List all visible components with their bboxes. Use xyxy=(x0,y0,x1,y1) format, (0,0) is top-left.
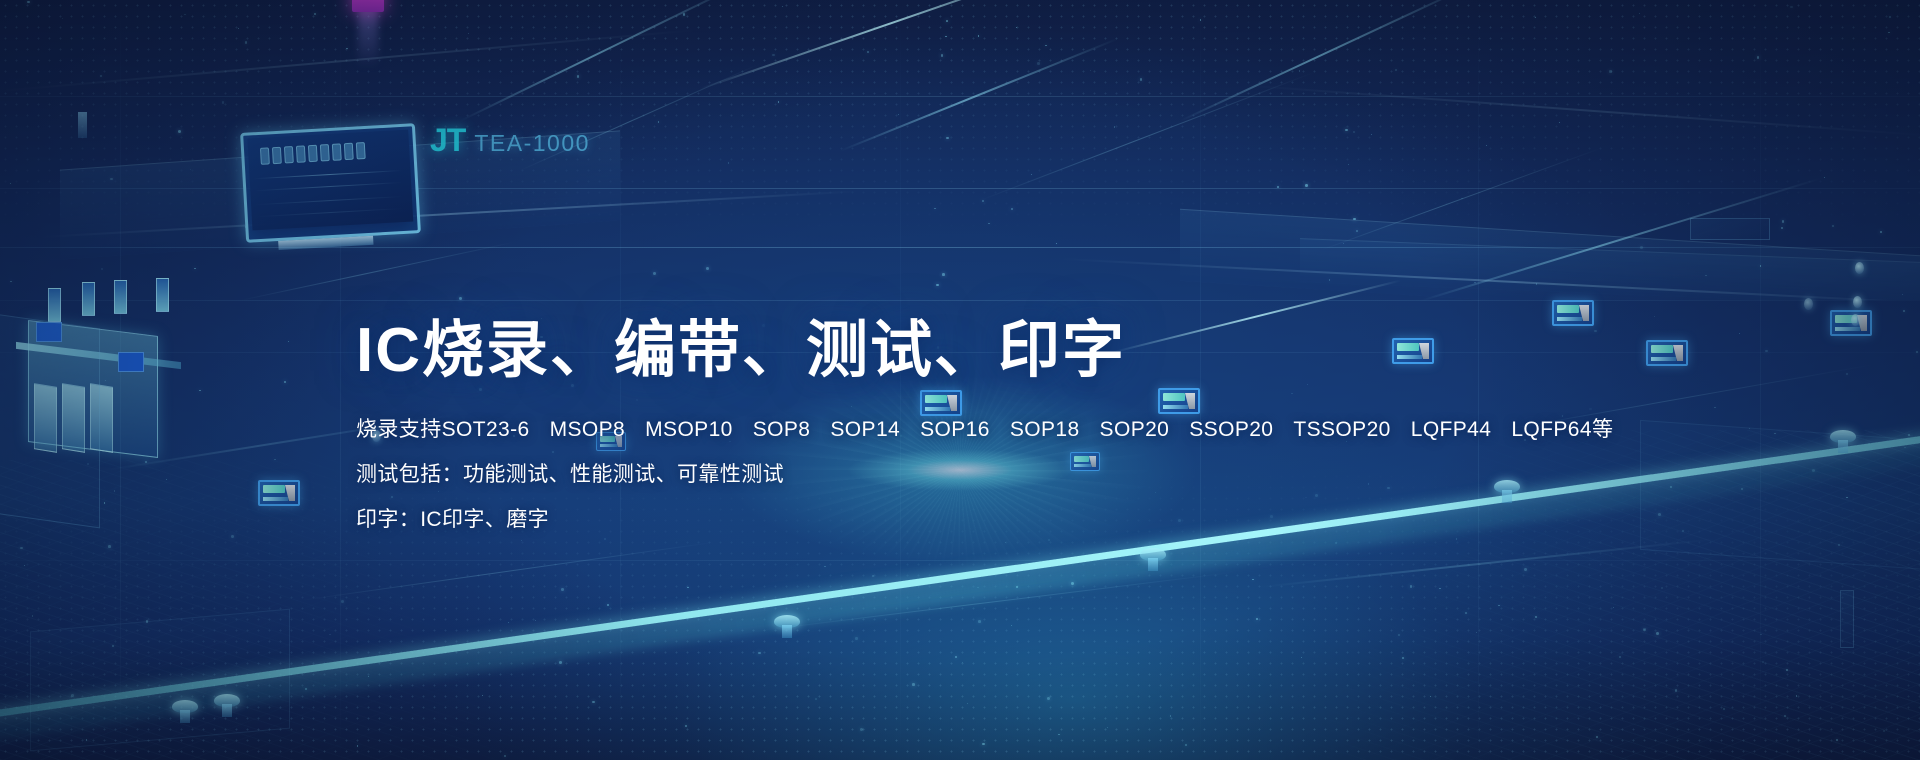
particle-dot xyxy=(1305,184,1308,187)
particle-dot xyxy=(1656,632,1659,635)
particle-dot xyxy=(1535,616,1537,618)
particle-dot xyxy=(1439,588,1441,590)
package-label: SOP18 xyxy=(1010,419,1080,440)
test-scope-line: 测试包括：功能测试、性能测试、可靠性测试 xyxy=(356,464,1606,485)
particle-dot xyxy=(1723,708,1725,710)
particle-dot xyxy=(967,703,968,704)
particle-dot xyxy=(1781,227,1784,230)
chip-package-icon xyxy=(1646,340,1688,366)
rail-node xyxy=(1826,430,1860,454)
indicator-light xyxy=(1804,298,1813,310)
particle-dot xyxy=(62,18,63,19)
particle-dot xyxy=(1832,225,1834,227)
particle-dot xyxy=(824,566,826,568)
particle-dot xyxy=(1675,689,1678,692)
particle-dot xyxy=(1486,145,1487,146)
particle-dot xyxy=(1045,45,1047,47)
hero-banner: JT TEA-1000 IC烧录、编带 xyxy=(0,0,1920,760)
particle-dot xyxy=(1058,734,1060,736)
particle-dot xyxy=(1760,634,1762,636)
particle-dot xyxy=(1889,16,1892,19)
machine-backdrop-panel xyxy=(0,312,100,529)
particle-dot xyxy=(1371,134,1372,135)
particle-dot xyxy=(772,54,775,57)
particle-dot xyxy=(1705,275,1707,277)
particle-dot xyxy=(912,683,915,686)
particle-dot xyxy=(114,490,116,492)
particle-dot xyxy=(1256,618,1258,620)
particle-dot xyxy=(1410,585,1413,588)
particle-dot xyxy=(592,701,595,704)
particle-dot xyxy=(468,33,469,34)
particle-dot xyxy=(1536,283,1538,285)
rail-node xyxy=(168,700,202,724)
particle-dot xyxy=(1880,231,1882,233)
particle-dot xyxy=(988,223,989,224)
particle-dot xyxy=(341,600,344,603)
particle-dot xyxy=(1613,607,1614,608)
particle-dot xyxy=(184,14,186,16)
monitor-screen xyxy=(247,130,413,231)
particle-dot xyxy=(1902,294,1903,295)
particle-dot xyxy=(1765,350,1768,353)
particle-dot xyxy=(101,268,103,270)
rail-node xyxy=(210,694,244,718)
package-label: LQFP64等 xyxy=(1511,419,1613,440)
particle-dot xyxy=(1107,727,1109,729)
monitor-display xyxy=(240,123,421,243)
particle-dot xyxy=(706,267,709,270)
particle-dot xyxy=(1760,265,1762,267)
particle-dot xyxy=(1596,736,1598,738)
rail-node xyxy=(770,615,804,639)
particle-dot xyxy=(32,615,34,617)
brand-mark-text: JT xyxy=(430,122,465,159)
particle-dot xyxy=(559,661,562,664)
particle-dot xyxy=(1661,587,1664,590)
particle-dot xyxy=(1524,568,1527,571)
particle-dot xyxy=(1757,56,1759,58)
equipment-model-text: TEA-1000 xyxy=(474,130,590,157)
package-label: SOP8 xyxy=(753,419,811,440)
particle-dot xyxy=(284,381,286,383)
particle-dot xyxy=(314,13,316,15)
particle-dot xyxy=(1356,230,1358,232)
package-label: LQFP44 xyxy=(1411,419,1492,440)
particle-dot xyxy=(1888,32,1890,34)
particle-dot xyxy=(685,725,687,727)
particle-dot xyxy=(860,728,863,731)
package-label: SOP14 xyxy=(830,419,900,440)
particle-dot xyxy=(238,28,239,29)
burn-support-line: 烧录支持SOT23-6MSOP8MSOP10SOP8SOP14SOP16SOP1… xyxy=(356,419,1606,440)
particle-dot xyxy=(978,620,981,623)
particle-dot xyxy=(1784,715,1786,717)
particle-dot xyxy=(577,75,579,77)
right-post xyxy=(1840,590,1854,648)
particle-dot xyxy=(855,637,857,639)
banner-detail-lines: 烧录支持SOT23-6MSOP8MSOP10SOP8SOP14SOP16SOP1… xyxy=(356,419,1606,530)
particle-dot xyxy=(1329,279,1330,280)
particle-dot xyxy=(1140,78,1142,80)
particle-dot xyxy=(1908,434,1910,436)
package-label: MSOP10 xyxy=(645,419,733,440)
light-beam xyxy=(358,8,378,68)
particle-dot xyxy=(978,35,980,37)
particle-dot xyxy=(1090,70,1091,71)
particle-dot xyxy=(1916,351,1918,353)
particle-dot xyxy=(1640,246,1643,249)
particle-dot xyxy=(982,743,985,746)
particle-dot xyxy=(1476,632,1477,633)
particle-dot xyxy=(1353,218,1355,220)
particle-dot xyxy=(1343,243,1344,244)
particle-dot xyxy=(936,284,938,286)
particle-dot xyxy=(782,6,783,7)
particle-dot xyxy=(1782,220,1785,223)
particle-dot xyxy=(1762,661,1764,663)
particle-dot xyxy=(190,169,191,170)
particle-dot xyxy=(108,545,111,548)
machine-head xyxy=(48,288,61,322)
indicator-light xyxy=(1851,314,1860,326)
particle-dot xyxy=(942,273,945,276)
particle-dot xyxy=(1739,333,1740,334)
machine-head xyxy=(114,280,127,314)
particle-dot xyxy=(683,13,685,15)
particle-dot xyxy=(1037,62,1040,65)
particle-dot xyxy=(110,178,113,181)
particle-dot xyxy=(898,114,899,115)
particle-dot xyxy=(946,137,948,139)
particle-dot xyxy=(658,121,659,122)
particle-dot xyxy=(1170,715,1172,717)
equipment-brand-logo: JT TEA-1000 xyxy=(430,122,590,159)
particle-dot xyxy=(1824,177,1825,178)
particle-dot xyxy=(1395,69,1397,71)
machine-module xyxy=(118,352,144,372)
particle-dot xyxy=(1609,70,1612,73)
monitor-stand xyxy=(78,112,87,138)
particle-dot xyxy=(1299,70,1301,72)
package-label: SOP20 xyxy=(1100,419,1170,440)
particle-dot xyxy=(346,48,347,49)
burn-support-prefix: 烧录支持SOT23-6 xyxy=(356,419,530,440)
particle-dot xyxy=(941,54,943,56)
particle-dot xyxy=(1031,174,1032,175)
particle-dot xyxy=(955,656,957,658)
particle-dot xyxy=(1559,122,1560,123)
particle-dot xyxy=(482,695,483,696)
particle-dot xyxy=(1790,6,1793,9)
particle-dot xyxy=(100,75,102,77)
particle-dot xyxy=(27,1,30,4)
particle-dot xyxy=(1200,19,1202,21)
particle-dot xyxy=(1114,126,1116,128)
machine-head xyxy=(156,278,169,312)
package-label: SSOP20 xyxy=(1189,419,1273,440)
marking-scope-line: 印字：IC印字、磨字 xyxy=(356,509,1606,530)
particle-dot xyxy=(1846,373,1848,375)
particle-dot xyxy=(1301,657,1302,658)
banner-copy: IC烧录、编带、测试、印字 烧录支持SOT23-6MSOP8MSOP10SOP8… xyxy=(356,318,1606,554)
particle-dot xyxy=(357,745,359,747)
particle-dot xyxy=(231,535,234,538)
particle-dot xyxy=(1348,164,1349,165)
particle-dot xyxy=(1353,131,1355,133)
particle-dot xyxy=(758,652,761,655)
particle-dot xyxy=(508,622,509,623)
particle-dot xyxy=(867,51,870,54)
page-title: IC烧录、编带、测试、印字 xyxy=(356,318,1606,385)
particle-dot xyxy=(1402,657,1404,659)
particle-dot xyxy=(1836,739,1838,741)
particle-dot xyxy=(946,20,948,22)
chip-package-icon xyxy=(258,480,300,506)
particle-dot xyxy=(1011,208,1014,211)
particle-dot xyxy=(1643,629,1645,631)
particle-dot xyxy=(1498,605,1500,607)
particle-dot xyxy=(815,698,817,700)
particle-dot xyxy=(728,162,730,164)
particle-dot xyxy=(504,755,506,757)
particle-dot xyxy=(1714,407,1715,408)
particle-dot xyxy=(288,341,289,342)
package-label: TSSOP20 xyxy=(1293,419,1390,440)
particle-dot xyxy=(24,565,26,567)
particle-dot xyxy=(1185,744,1187,746)
indicator-light xyxy=(1855,262,1864,274)
particle-dot xyxy=(1796,695,1797,696)
magenta-light-fixture-icon xyxy=(352,0,384,12)
particle-dot xyxy=(1654,316,1655,317)
particle-dot xyxy=(934,208,936,210)
particle-dot xyxy=(1398,634,1400,636)
particle-dot xyxy=(1883,730,1885,732)
particle-dot xyxy=(535,620,536,621)
particle-dot xyxy=(1465,612,1467,614)
package-label: SOP16 xyxy=(920,419,990,440)
indicator-light xyxy=(1853,296,1862,308)
particle-dot xyxy=(561,588,564,591)
particle-dot xyxy=(178,130,181,133)
particle-dot xyxy=(329,634,331,636)
particle-dot xyxy=(1016,27,1017,28)
particle-dot xyxy=(607,604,610,607)
particle-dot xyxy=(459,297,462,300)
particle-dot xyxy=(104,502,105,503)
monitor-cell-row xyxy=(260,142,366,165)
particle-dot xyxy=(1277,186,1279,188)
particle-dot xyxy=(687,587,689,589)
particle-dot xyxy=(778,101,780,103)
particle-dot xyxy=(1903,310,1905,312)
particle-dot xyxy=(10,183,12,185)
particle-dot xyxy=(1056,243,1057,244)
particle-dot xyxy=(1461,198,1463,200)
particle-dot xyxy=(653,272,656,275)
particle-dot xyxy=(194,268,196,270)
particle-dot xyxy=(1430,696,1431,697)
particle-dot xyxy=(872,575,874,577)
particle-dot xyxy=(945,36,947,38)
particle-dot xyxy=(962,662,963,663)
package-label: MSOP8 xyxy=(550,419,626,440)
particle-dot xyxy=(1011,625,1012,626)
machine-head xyxy=(82,282,95,316)
particle-dot xyxy=(982,200,984,202)
particle-dot xyxy=(274,459,276,461)
particle-dot xyxy=(1345,129,1348,132)
particle-dot xyxy=(1047,697,1050,700)
particle-dot xyxy=(20,547,23,550)
particle-dot xyxy=(199,390,201,392)
particle-dot xyxy=(1474,282,1476,284)
particle-dot xyxy=(1535,17,1536,18)
particle-dot xyxy=(1619,656,1621,658)
particle-dot xyxy=(1786,669,1788,671)
right-equipment-panel xyxy=(1690,218,1770,240)
particle-dot xyxy=(222,101,224,103)
particle-dot xyxy=(245,41,248,44)
particle-dot xyxy=(1252,579,1254,581)
particle-dot xyxy=(1639,13,1640,14)
